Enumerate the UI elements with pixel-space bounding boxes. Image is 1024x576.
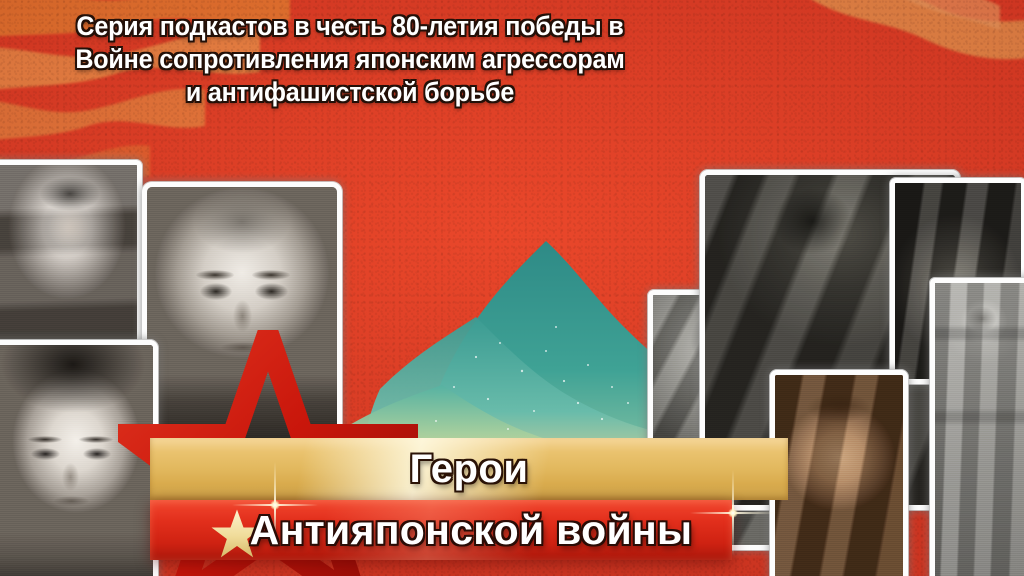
headline-text: Серия подкастов в честь 80-летия победы … (25, 10, 676, 109)
banner-subtitle: Антияпонской войны (150, 502, 732, 558)
poster-canvas: Серия подкастов в честь 80-летия победы … (0, 0, 1024, 576)
bust-commander-bronze (770, 370, 898, 576)
banner-title: Герои (150, 440, 788, 498)
statue-commander-stone (930, 278, 1024, 576)
